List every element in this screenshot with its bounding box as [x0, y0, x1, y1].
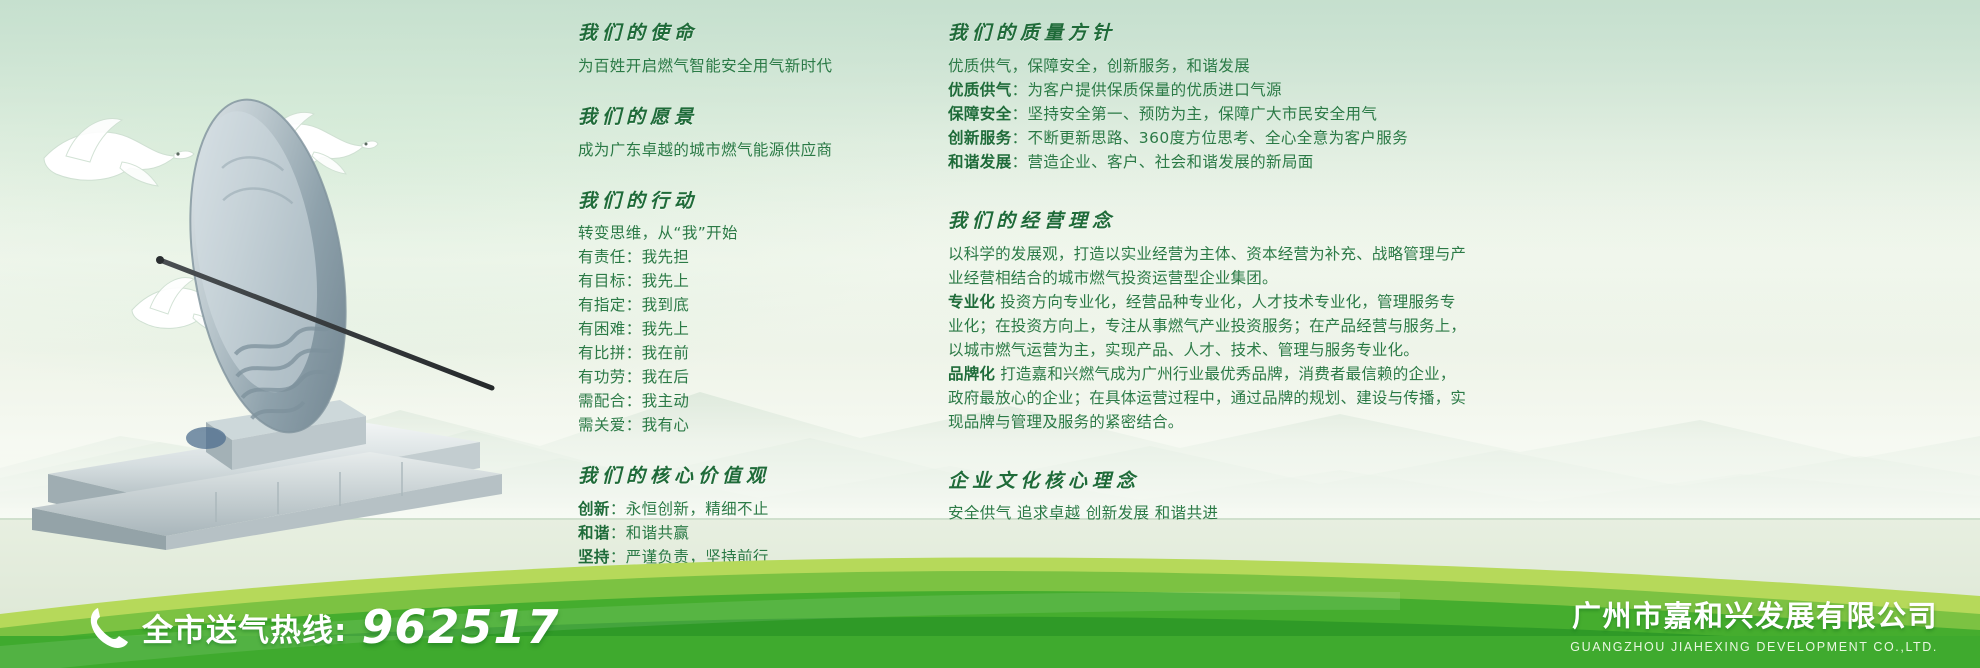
- action-line: 有比拼：我在前: [578, 341, 928, 365]
- quality-policy-heading: 我们的质量方针: [948, 22, 1468, 45]
- quality-policy-summary: 优质供气，保障安全，创新服务，和谐发展: [948, 54, 1468, 78]
- culture-core-heading: 企业文化核心理念: [948, 470, 1468, 493]
- core-value-text: ：永恒创新，精细不止: [610, 500, 769, 518]
- action-line: 转变思维，从“我”开始: [578, 221, 928, 245]
- quality-policy-text: ：不断更新思路、360度方位思考、全心全意为客户服务: [1012, 129, 1409, 147]
- management-philosophy-intro: 以科学的发展观，打造以实业经营为主体、资本经营为补充、战略管理与产业经营相结合的…: [948, 242, 1468, 290]
- section-quality-policy: 我们的质量方针 优质供气，保障安全，创新服务，和谐发展 优质供气：为客户提供保质…: [948, 22, 1468, 174]
- company-name-en: GUANGZHOU JIAHEXING DEVELOPMENT CO.,LTD.: [1570, 640, 1938, 654]
- hotline-group: 全市送气热线: 962517: [86, 604, 559, 650]
- quality-policy-lead: 创新服务: [948, 129, 1012, 147]
- section-vision: 我们的愿景 成为广东卓越的城市燃气能源供应商: [578, 106, 928, 162]
- company-identity: 广州市嘉和兴发展有限公司 GUANGZHOU JIAHEXING DEVELOP…: [1570, 593, 1938, 654]
- action-line: 有目标：我先上: [578, 269, 928, 293]
- mission-heading: 我们的使命: [578, 22, 928, 45]
- management-philosophy-lead: 品牌化: [948, 365, 995, 383]
- quality-policy-text: ：营造企业、客户、社会和谐发展的新局面: [1012, 153, 1314, 171]
- vision-line: 成为广东卓越的城市燃气能源供应商: [578, 138, 928, 162]
- section-management-philosophy: 我们的经营理念 以科学的发展观，打造以实业经营为主体、资本经营为补充、战略管理与…: [948, 210, 1468, 434]
- mission-line: 为百姓开启燃气智能安全用气新时代: [578, 54, 928, 78]
- action-line: 需配合：我主动: [578, 389, 928, 413]
- quality-policy-item: 和谐发展：营造企业、客户、社会和谐发展的新局面: [948, 150, 1468, 174]
- management-philosophy-lead: 专业化: [948, 293, 995, 311]
- management-philosophy-heading: 我们的经营理念: [948, 210, 1468, 233]
- quality-policy-text: ：为客户提供保质保量的优质进口气源: [1012, 81, 1282, 99]
- phone-icon: [86, 604, 132, 650]
- company-name-cn: 广州市嘉和兴发展有限公司: [1570, 593, 1938, 635]
- quality-policy-lead: 和谐发展: [948, 153, 1012, 171]
- action-heading: 我们的行动: [578, 190, 928, 213]
- action-line: 有指定：我到底: [578, 293, 928, 317]
- quality-policy-text: ：坚持安全第一、预防为主，保障广大市民安全用气: [1012, 105, 1378, 123]
- management-philosophy-item: 品牌化 打造嘉和兴燃气成为广州行业最优秀品牌，消费者最信赖的企业，政府最放心的企…: [948, 362, 1468, 434]
- management-philosophy-item: 专业化 投资方向专业化，经营品种专业化，人才技术专业化，管理服务专业化；在投资方…: [948, 290, 1468, 362]
- middle-text-column: 我们的使命 为百姓开启燃气智能安全用气新时代 我们的愿景 成为广东卓越的城市燃气…: [578, 22, 928, 579]
- section-action: 我们的行动 转变思维，从“我”开始 有责任：我先担 有目标：我先上 有指定：我到…: [578, 190, 928, 438]
- action-line: 有责任：我先担: [578, 245, 928, 269]
- quality-policy-item: 创新服务：不断更新思路、360度方位思考、全心全意为客户服务: [948, 126, 1468, 150]
- quality-policy-item: 保障安全：坚持安全第一、预防为主，保障广大市民安全用气: [948, 102, 1468, 126]
- action-line: 有功劳：我在后: [578, 365, 928, 389]
- dove-icon: [26, 112, 196, 208]
- core-value-lead: 创新: [578, 500, 610, 518]
- hotline-number: 962517: [361, 604, 559, 650]
- hotline-label: 全市送气热线:: [142, 605, 347, 650]
- core-values-heading: 我们的核心价值观: [578, 465, 928, 488]
- management-philosophy-text: 投资方向专业化，经营品种专业化，人才技术专业化，管理服务专业化；在投资方向上，专…: [948, 293, 1466, 359]
- footer-bar: 全市送气热线: 962517 广州市嘉和兴发展有限公司 GUANGZHOU JI…: [0, 518, 1980, 668]
- right-text-column: 我们的质量方针 优质供气，保障安全，创新服务，和谐发展 优质供气：为客户提供保质…: [948, 22, 1468, 535]
- quality-policy-lead: 优质供气: [948, 81, 1012, 99]
- management-philosophy-text: 打造嘉和兴燃气成为广州行业最优秀品牌，消费者最信赖的企业，政府最放心的企业；在具…: [948, 365, 1466, 431]
- action-line: 需关爱：我有心: [578, 413, 928, 437]
- section-mission: 我们的使命 为百姓开启燃气智能安全用气新时代: [578, 22, 928, 78]
- poster-canvas: 我们的使命 为百姓开启燃气智能安全用气新时代 我们的愿景 成为广东卓越的城市燃气…: [0, 0, 1980, 668]
- quality-policy-lead: 保障安全: [948, 105, 1012, 123]
- vision-heading: 我们的愿景: [578, 106, 928, 129]
- dove-icon: [120, 272, 250, 352]
- dove-icon: [228, 106, 378, 192]
- action-line: 有困难：我先上: [578, 317, 928, 341]
- quality-policy-item: 优质供气：为客户提供保质保量的优质进口气源: [948, 78, 1468, 102]
